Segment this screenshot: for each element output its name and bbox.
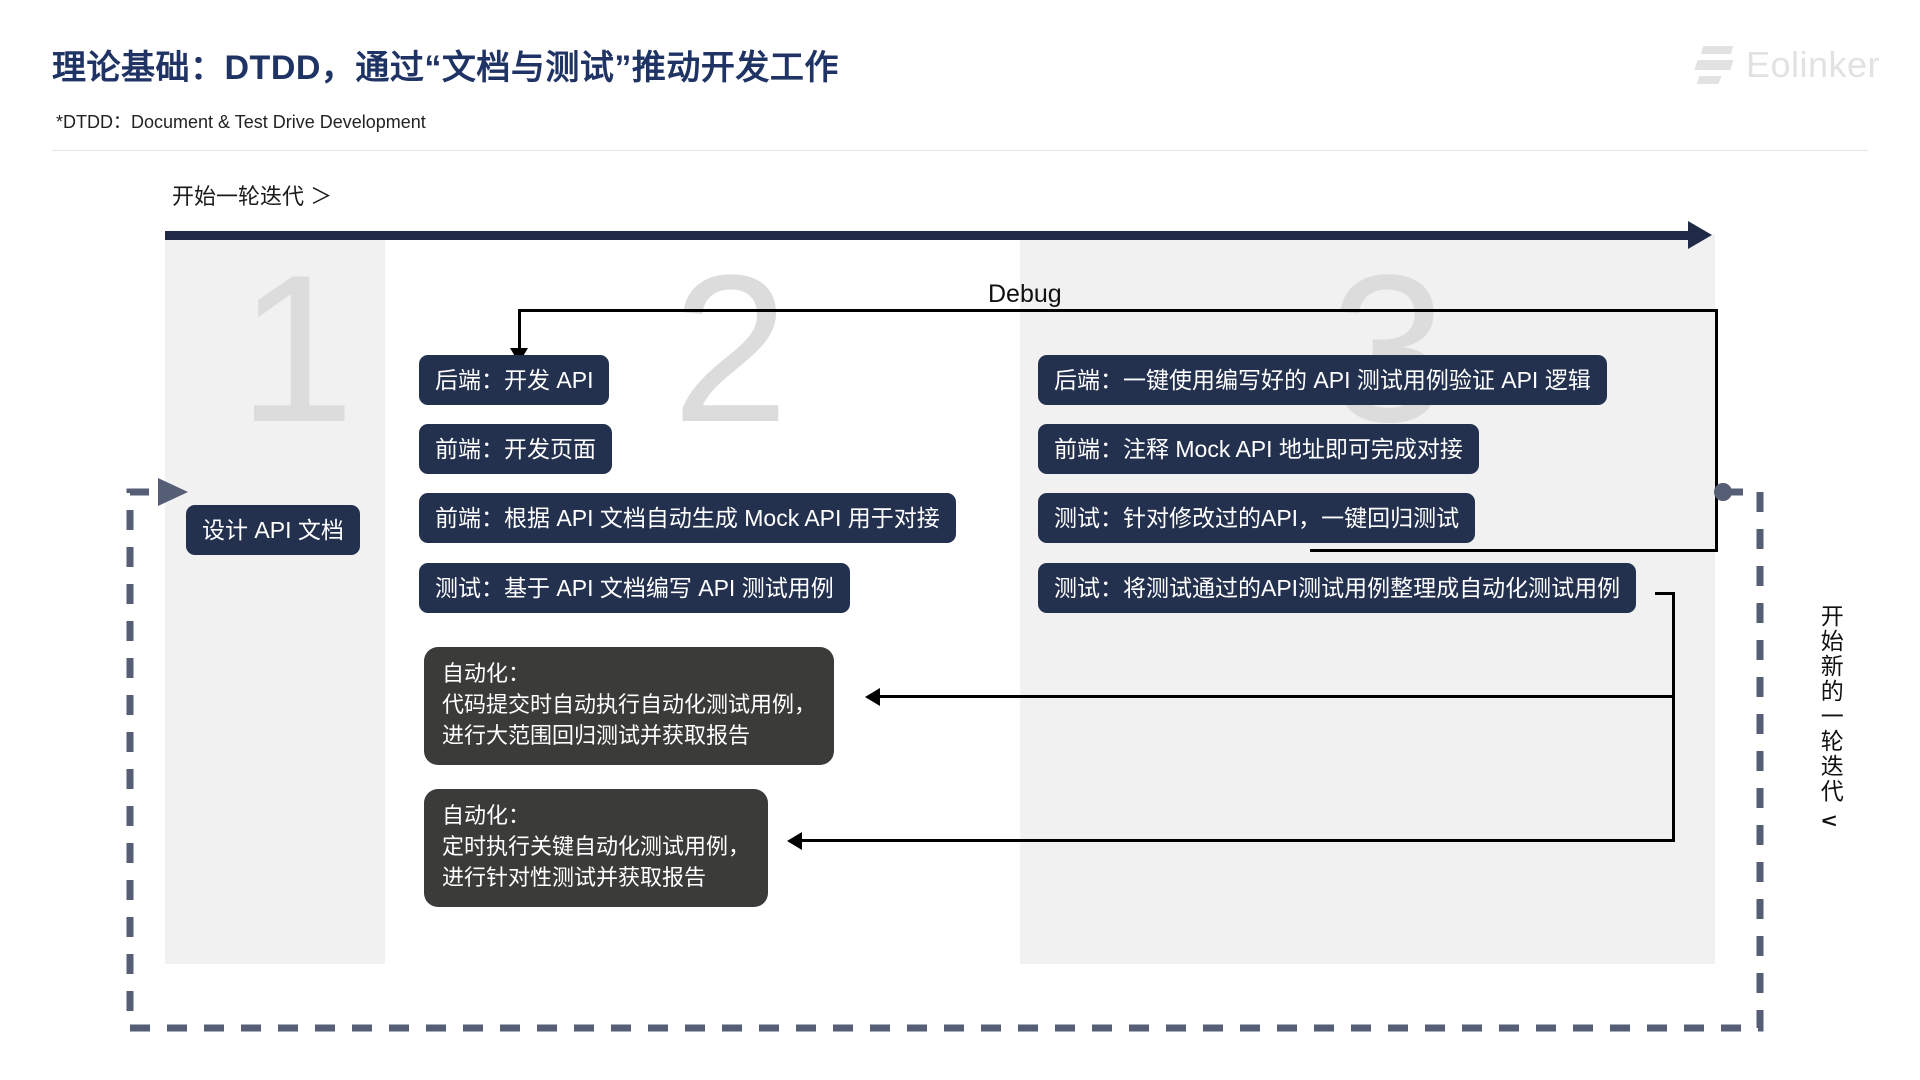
page-header: 理论基础：DTDD，通过“文档与测试”推动开发工作 *DTDD：Document… bbox=[0, 0, 1920, 152]
node-frontend-generate-mock-api[interactable]: 前端：根据 API 文档自动生成 Mock API 用于对接 bbox=[419, 493, 956, 543]
eolinker-logo: Eolinker bbox=[1696, 44, 1880, 86]
stage-number-1: 1 bbox=[238, 244, 355, 454]
debug-loop-right-line bbox=[1715, 309, 1718, 552]
iteration-start-label: 开始一轮迭代 ＞ bbox=[172, 179, 332, 211]
node-backend-verify-api[interactable]: 后端：一键使用编写好的 API 测试用例验证 API 逻辑 bbox=[1038, 355, 1607, 405]
node-automation-scheduled[interactable]: 自动化： 定时执行关键自动化测试用例， 进行针对性测试并获取报告 bbox=[424, 789, 768, 907]
node-design-api-doc[interactable]: 设计 API 文档 bbox=[186, 505, 360, 555]
collect-to-auto1-hline bbox=[878, 695, 1675, 698]
debug-label: Debug bbox=[988, 280, 1062, 309]
collect-stub-hline bbox=[1655, 592, 1675, 595]
timeline-arrow-line bbox=[165, 231, 1692, 240]
page-subtitle: *DTDD：Document & Test Drive Development bbox=[56, 108, 426, 134]
page-title: 理论基础：DTDD，通过“文档与测试”推动开发工作 bbox=[52, 40, 839, 89]
node-test-write-cases[interactable]: 测试：基于 API 文档编写 API 测试用例 bbox=[419, 563, 850, 613]
node-test-regression[interactable]: 测试：针对修改过的API，一键回归测试 bbox=[1038, 493, 1475, 543]
node-automation-on-commit[interactable]: 自动化： 代码提交时自动执行自动化测试用例， 进行大范围回归测试并获取报告 bbox=[424, 647, 834, 765]
logo-text: Eolinker bbox=[1746, 44, 1880, 86]
node-frontend-switch-mock-url[interactable]: 前端：注释 Mock API 地址即可完成对接 bbox=[1038, 424, 1479, 474]
timeline-arrow-head bbox=[1688, 221, 1712, 249]
debug-loop-bottom-line bbox=[1310, 549, 1718, 552]
stage-number-2: 2 bbox=[672, 244, 789, 454]
collect-to-auto2-hline bbox=[800, 839, 1675, 842]
new-iteration-label: 开始新的一轮迭代 ∨ bbox=[1817, 604, 1842, 831]
stacked-bars-icon bbox=[1696, 44, 1732, 86]
collect-to-auto1-arrowhead bbox=[865, 688, 880, 706]
collect-to-auto2-arrowhead bbox=[787, 832, 802, 850]
process-diagram: 1 2 3 开始一轮迭代 ＞ Debug 设计 API 文档 后端：开发 API… bbox=[0, 152, 1920, 1080]
stage-number-3: 3 bbox=[1330, 244, 1447, 454]
header-divider bbox=[52, 150, 1868, 151]
collect-to-auto1-vline bbox=[1672, 592, 1675, 697]
collect-to-auto2-vline bbox=[1672, 695, 1675, 842]
node-backend-develop-api[interactable]: 后端：开发 API bbox=[419, 355, 609, 405]
debug-loop-top-line bbox=[518, 309, 1718, 312]
node-test-collect-automation[interactable]: 测试：将测试通过的API测试用例整理成自动化测试用例 bbox=[1038, 563, 1636, 613]
node-frontend-develop-page[interactable]: 前端：开发页面 bbox=[419, 424, 612, 474]
